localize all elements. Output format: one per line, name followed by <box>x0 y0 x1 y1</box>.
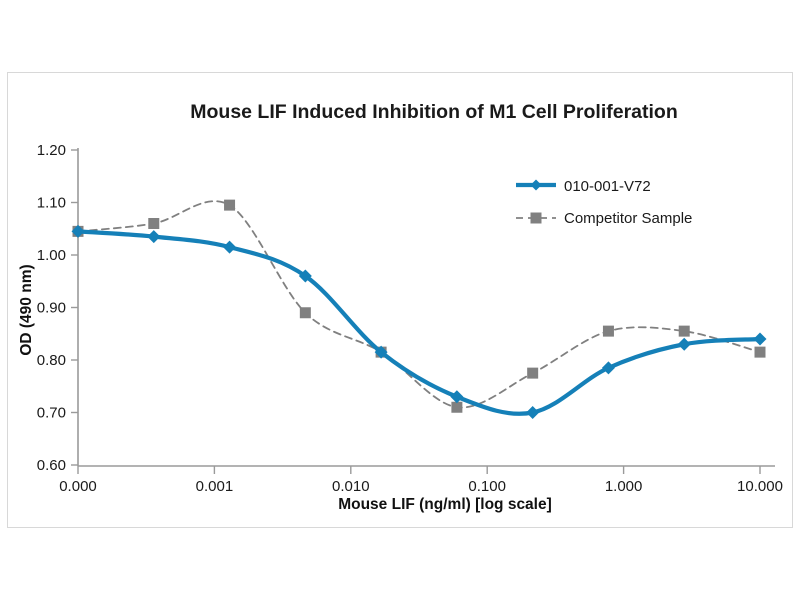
series-layer <box>72 200 767 419</box>
data-point-diamond[interactable] <box>147 230 160 243</box>
legend-label-secondary: Competitor Sample <box>564 210 692 227</box>
y-axis-label: OD (490 nm) <box>18 264 35 355</box>
series-secondary <box>73 200 766 413</box>
legend-item-secondary[interactable]: Competitor Sample <box>516 210 692 227</box>
chart-title: Mouse LIF Induced Inhibition of M1 Cell … <box>190 101 678 123</box>
y-tick-label: 0.90 <box>37 300 66 317</box>
x-tick-label: 10.000 <box>737 478 783 495</box>
chart-legend: 010-001-V72 Competitor Sample <box>516 178 692 227</box>
data-point-diamond[interactable] <box>450 390 463 403</box>
y-tick-label: 0.70 <box>37 405 66 422</box>
legend-marker-diamond <box>531 180 542 191</box>
data-point-square[interactable] <box>755 347 766 358</box>
x-tick-label: 0.100 <box>468 478 506 495</box>
legend-item-primary[interactable]: 010-001-V72 <box>516 178 651 195</box>
x-tick-label: 0.010 <box>332 478 370 495</box>
y-tick-label: 1.00 <box>37 247 66 264</box>
y-tick-label: 1.20 <box>37 142 66 159</box>
y-tick-marks <box>71 150 78 465</box>
chart-page: Mouse LIF Induced Inhibition of M1 Cell … <box>0 0 800 600</box>
data-point-diamond[interactable] <box>754 333 767 346</box>
y-tick-labels: 1.201.101.000.900.800.700.60 <box>37 142 66 474</box>
data-point-square[interactable] <box>300 307 311 318</box>
chart-canvas: Mouse LIF Induced Inhibition of M1 Cell … <box>0 0 800 600</box>
y-axis: 1.201.101.000.900.800.700.60 <box>37 142 78 474</box>
series-line <box>78 231 760 413</box>
data-point-diamond[interactable] <box>678 338 691 351</box>
data-point-square[interactable] <box>527 368 538 379</box>
y-tick-label: 0.60 <box>37 457 66 474</box>
data-point-square[interactable] <box>603 326 614 337</box>
data-point-square[interactable] <box>148 218 159 229</box>
series-primary <box>72 225 767 419</box>
data-point-square[interactable] <box>224 200 235 211</box>
y-tick-label: 0.80 <box>37 352 66 369</box>
data-point-square[interactable] <box>451 402 462 413</box>
y-tick-label: 1.10 <box>37 195 66 212</box>
x-axis-label: Mouse LIF (ng/ml) [log scale] <box>338 496 552 513</box>
x-tick-label: 1.000 <box>605 478 643 495</box>
data-point-square[interactable] <box>679 326 690 337</box>
data-point-diamond[interactable] <box>223 241 236 254</box>
data-point-diamond[interactable] <box>526 406 539 419</box>
x-tick-marks <box>78 466 760 474</box>
legend-marker-square <box>531 213 542 224</box>
x-axis: 0.0000.0010.0100.1001.00010.000 <box>59 466 783 495</box>
legend-label-primary: 010-001-V72 <box>564 178 651 195</box>
x-tick-labels: 0.0000.0010.0100.1001.00010.000 <box>59 478 783 495</box>
x-tick-label: 0.000 <box>59 478 97 495</box>
x-tick-label: 0.001 <box>196 478 234 495</box>
